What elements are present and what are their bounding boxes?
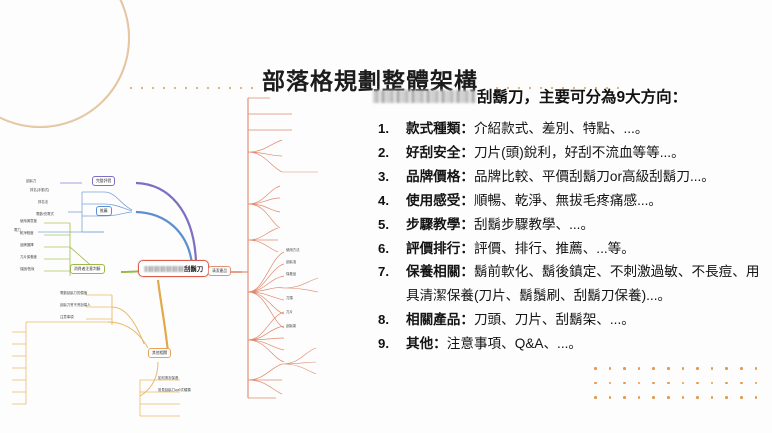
mindmap-leaf: 如何清潔保養	[158, 376, 178, 380]
decorative-dot	[682, 382, 685, 385]
decorative-dot-grid	[594, 367, 772, 419]
decorative-dot	[652, 396, 655, 399]
decorative-dot	[667, 396, 670, 399]
list-item-description: 刮鬍步驟教學、...。	[474, 217, 594, 232]
decorative-dot	[740, 396, 743, 399]
decorative-dot	[609, 396, 612, 399]
list-item-label: 其他：	[406, 336, 447, 351]
decorative-dot	[711, 382, 714, 385]
decorative-dot	[740, 382, 743, 385]
list-item-label: 步驟教學：	[406, 217, 474, 232]
mindmap-node-comparison: 完整評價	[92, 176, 115, 186]
decorative-dot	[652, 382, 655, 385]
mindmap-center-node: 刮鬍刀	[138, 260, 209, 277]
mindmap-leaf: 保養品	[286, 272, 296, 276]
list-item-label: 品牌價格：	[406, 169, 474, 184]
mindmap-leaf: 刮鬍刀會不會刮傷人	[60, 303, 91, 307]
decorative-dot	[755, 396, 758, 399]
mindmap-node-cleaning: 清潔產品	[208, 266, 231, 276]
direction-list-item: 4.使用感受：順暢、乾淨、無拔毛疼痛感...。	[373, 189, 765, 212]
direction-list: 1.款式種類：介紹款式、差別、特點、...。2.好刮安全：刀片(頭)銳利，好刮不…	[373, 117, 765, 355]
mindmap-connectors	[8, 80, 368, 428]
mindmap-leaf: 排名(手動式)	[30, 188, 49, 192]
content-panel: 刮鬍刀，主要可分為9大方向： 1.款式種類：介紹款式、差別、特點、...。2.好…	[373, 88, 765, 356]
list-item-description: 刀片(頭)銳利，好刮不流血等等...。	[474, 145, 685, 160]
direction-list-item: 2.好刮安全：刀片(頭)銳利，好刮不流血等等...。	[373, 141, 765, 164]
list-item-label: 保養相關：	[406, 264, 474, 279]
decorative-dot	[740, 367, 743, 370]
decorative-dot	[696, 396, 699, 399]
list-item-description: 評價、排行、推薦、...等。	[474, 241, 635, 256]
mindmap-center-label: 刮鬍刀	[184, 266, 203, 273]
list-item-label: 使用感受：	[406, 193, 474, 208]
mindmap-leaf: 保固/售後	[20, 267, 35, 271]
list-item-number: 1.	[378, 117, 389, 140]
mindmap-leaf: 排名法	[38, 200, 48, 204]
mindmap-leaf: 常見刮鬍刀způ式種類	[158, 388, 191, 392]
direction-list-item: 9.其他：注意事項、Q&A、...。	[373, 332, 765, 355]
lead-heading: 刮鬍刀，主要可分為9大方向：	[373, 88, 765, 108]
list-item-number: 3.	[378, 165, 389, 188]
decorative-dot	[623, 367, 626, 370]
mindmap-leaf: 使用滿意度	[20, 219, 37, 223]
list-item-number: 5.	[378, 213, 389, 236]
decorative-dot	[594, 367, 597, 370]
list-item-description: 介紹款式、差別、特點、...。	[474, 121, 648, 136]
mindmap-leaf: 使用方法	[286, 248, 300, 252]
mindmap-leaf: 刀頭	[286, 296, 293, 300]
decorative-dot	[711, 367, 714, 370]
direction-list-item: 6.評價排行：評價、排行、推薦、...等。	[373, 237, 765, 260]
list-item-number: 4.	[378, 189, 389, 212]
brand-redaction	[373, 90, 476, 103]
mindmap-leaf: 乾淨程度	[20, 231, 34, 235]
list-item-description: 刀頭、刀片、刮鬍架、...。	[474, 312, 635, 327]
direction-list-item: 7.保養相關：鬍前軟化、鬍後鎮定、不刺激過敏、不長痘、用具清潔保養(刀片、鬍鬚刷…	[373, 260, 765, 307]
decorative-dot	[638, 367, 641, 370]
list-item-number: 9.	[378, 332, 389, 355]
direction-list-item: 8.相關產品：刀頭、刀片、刮鬍架、...。	[373, 308, 765, 331]
decorative-dot	[638, 396, 641, 399]
list-item-number: 7.	[378, 260, 389, 283]
mindmap-node-other: 其他相關	[148, 348, 171, 358]
mindmap-diagram: 刮鬍刀 完整評價 推薦 消費者注意判斷 其他相關 清潔產品 刮鬍刀 排名(手動式…	[8, 80, 368, 428]
list-item-description: 順暢、乾淨、無拔毛疼痛感...。	[474, 193, 662, 208]
decorative-dot	[711, 396, 714, 399]
decorative-dot	[609, 382, 612, 385]
mindmap-center-redaction	[144, 266, 184, 272]
decorative-dot	[696, 382, 699, 385]
decorative-dot	[725, 382, 728, 385]
mindmap-node-recommend: 推薦	[96, 206, 112, 216]
mindmap-leaf: 刮鬍刀	[26, 179, 36, 183]
list-item-label: 好刮安全：	[406, 145, 474, 160]
mindmap-node-consumer: 消費者注意判斷	[70, 264, 105, 274]
decorative-dot	[623, 396, 626, 399]
mindmap-leaf: 注意事項	[60, 315, 74, 319]
decorative-dot	[667, 367, 670, 370]
decorative-dot	[652, 367, 655, 370]
decorative-dot	[667, 382, 670, 385]
title-row: 部落格規劃整體架構	[0, 36, 772, 70]
direction-list-item: 1.款式種類：介紹款式、差別、特點、...。	[373, 117, 765, 140]
list-item-number: 2.	[378, 141, 389, 164]
slide-root: 部落格規劃整體架構	[0, 0, 772, 433]
decorative-dot	[696, 367, 699, 370]
list-item-label: 款式種類：	[406, 121, 474, 136]
decorative-dot	[594, 396, 597, 399]
mindmap-leaf: 刀片保養度	[20, 255, 37, 259]
lead-heading-text: 刮鬍刀，主要可分為9大方向：	[477, 89, 687, 106]
decorative-dot	[682, 367, 685, 370]
decorative-dot	[638, 382, 641, 385]
list-item-label: 相關產品：	[406, 312, 474, 327]
mindmap-leaf: 電動/充電式	[36, 212, 54, 216]
decorative-dot	[725, 367, 728, 370]
mindmap-leaf: 品牌選擇	[20, 243, 34, 247]
decorative-dot	[594, 382, 597, 385]
direction-list-item: 5.步驟教學：刮鬍步驟教學、...。	[373, 213, 765, 236]
mindmap-leaf: 刮鬍泡	[286, 260, 296, 264]
list-item-label: 評價排行：	[406, 241, 474, 256]
mindmap-leaf: 電動刮鬍刀的價值	[60, 291, 87, 295]
mindmap-leaf: 刮鬍架	[286, 324, 296, 328]
direction-list-item: 3.品牌價格：品牌比較、平價刮鬍刀or高級刮鬍刀...。	[373, 165, 765, 188]
list-item-number: 6.	[378, 237, 389, 260]
decorative-dot	[755, 367, 758, 370]
decorative-dot	[623, 382, 626, 385]
list-item-description: 注意事項、Q&A、...。	[447, 336, 582, 351]
list-item-description: 品牌比較、平價刮鬍刀or高級刮鬍刀...。	[474, 169, 715, 184]
decorative-dot	[609, 367, 612, 370]
decorative-dot	[755, 382, 758, 385]
decorative-dot	[682, 396, 685, 399]
list-item-number: 8.	[378, 308, 389, 331]
mindmap-leaf: 刀片	[286, 310, 293, 314]
decorative-dot	[725, 396, 728, 399]
